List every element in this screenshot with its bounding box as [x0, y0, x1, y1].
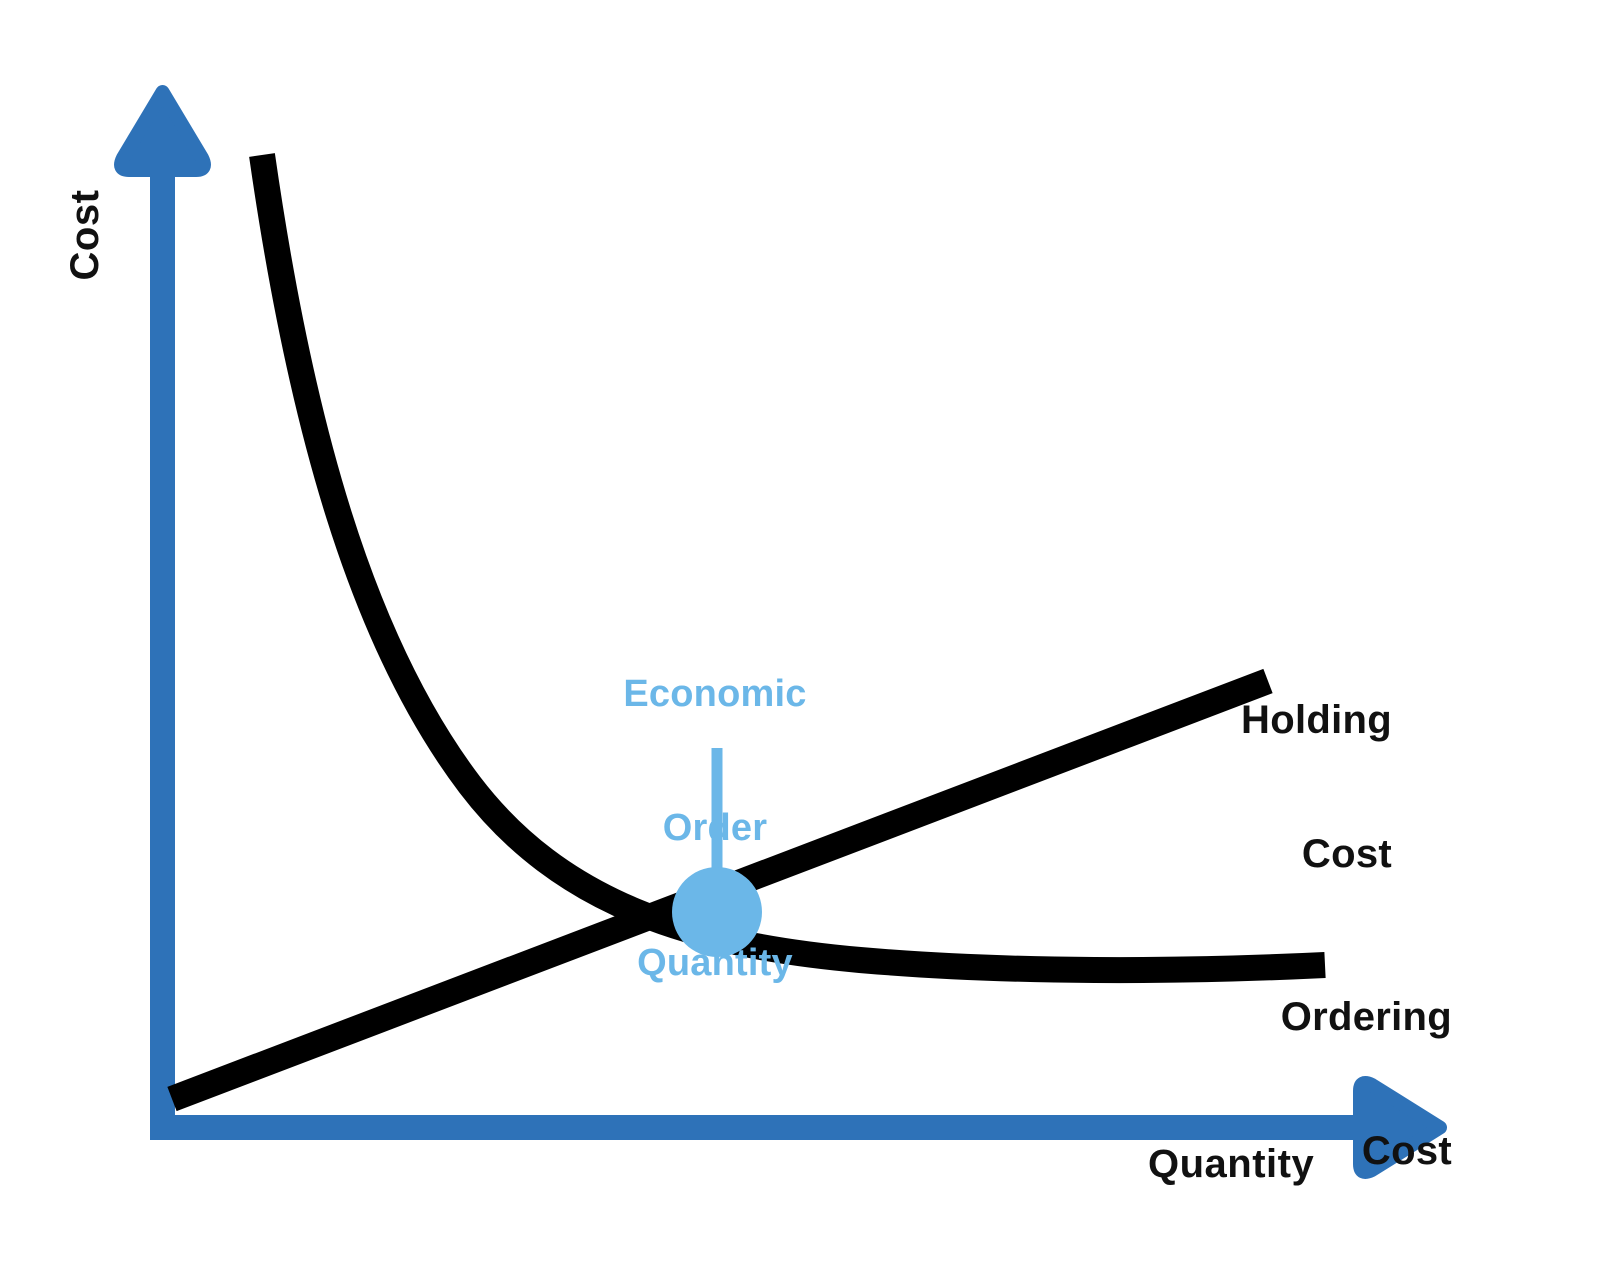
- x-axis-line: [150, 1115, 1380, 1140]
- eoq-label-line-2: Order: [590, 806, 840, 851]
- y-axis-title: Cost: [63, 185, 108, 285]
- holding-cost-label-line-2: Cost: [1241, 832, 1392, 877]
- ordering-cost-label-line-2: Cost: [1281, 1129, 1452, 1174]
- eoq-label-line-3: Quantity: [590, 941, 840, 986]
- ordering-cost-label-line-1: Ordering: [1281, 995, 1452, 1040]
- y-axis-line: [150, 160, 175, 1140]
- eoq-chart-canvas: Cost Quantity Holding Cost Ordering Cost…: [0, 0, 1600, 1262]
- eoq-annotation-label: Economic Order Quantity: [590, 582, 840, 1075]
- holding-cost-label-line-1: Holding: [1241, 698, 1392, 743]
- ordering-cost-label: Ordering Cost: [1281, 905, 1452, 1262]
- eoq-label-line-1: Economic: [590, 672, 840, 717]
- y-axis-arrow-icon: [121, 92, 204, 170]
